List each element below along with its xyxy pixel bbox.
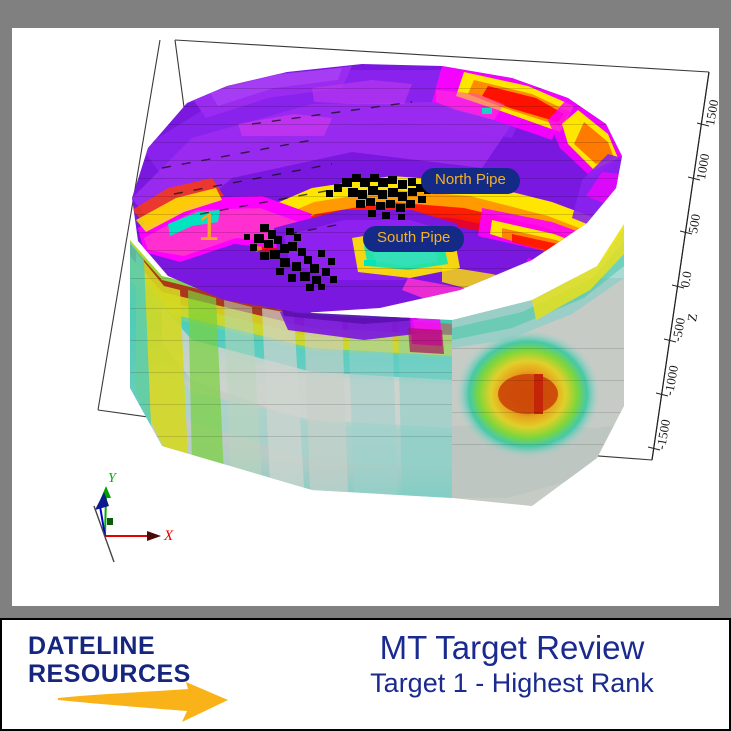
screenshot-root: 1500 1000 500 0.0 -500 -1000 -1500 Z 1 N…	[0, 0, 731, 731]
logo-arrow-icon	[56, 682, 231, 724]
orientation-gizmo	[94, 486, 161, 562]
slide-title-block: MT Target Review Target 1 - Highest Rank	[302, 630, 722, 699]
south-pipe-label[interactable]: South Pipe	[363, 226, 464, 252]
gizmo-x-label: X	[164, 528, 173, 545]
z-tick-0: 0.0	[677, 270, 696, 289]
gizmo-y-label: Y	[108, 471, 116, 487]
slide-subtitle: Target 1 - Highest Rank	[302, 668, 722, 699]
north-pipe-label[interactable]: North Pipe	[421, 168, 520, 194]
model-3d-scene[interactable]: 1500 1000 500 0.0 -500 -1000 -1500 Z 1 N…	[12, 28, 719, 606]
z-tick-500: 500	[685, 213, 704, 235]
company-logo[interactable]: DATELINE RESOURCES	[28, 634, 278, 687]
z-axis	[648, 72, 709, 460]
plot-panel: 1500 1000 500 0.0 -500 -1000 -1500 Z 1 N…	[12, 28, 719, 606]
block-model-svg	[12, 28, 719, 606]
footer-bar: DATELINE RESOURCES MT Target Review Targ…	[0, 618, 731, 731]
logo-line-1: DATELINE	[28, 634, 278, 659]
slide-title: MT Target Review	[302, 630, 722, 667]
target-number-label: 1	[198, 209, 219, 247]
